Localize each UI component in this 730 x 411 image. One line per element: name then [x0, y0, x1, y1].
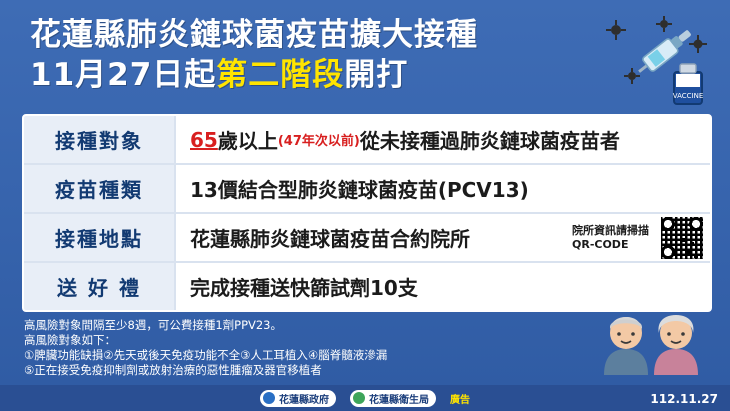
notes-block: 高風險對象間隔至少8週，可公費接種1劑PPV23。 高風險對象如下： ①脾臟功能… — [24, 318, 544, 378]
logo-county-label: 花蓮縣政府 — [279, 391, 329, 406]
footer-bar: 花蓮縣政府 花蓮縣衛生局 廣告 — [0, 385, 730, 411]
qr-code-icon[interactable] — [660, 216, 704, 260]
eligible-age: 65 — [190, 128, 218, 152]
row-label-gift: 送 好 禮 — [24, 263, 176, 310]
publish-date: 112.11.27 — [650, 392, 718, 406]
elderly-couple-icon — [596, 303, 706, 375]
note-line-1: 高風險對象間隔至少8週，可公費接種1劑PPV23。 — [24, 318, 544, 333]
table-row: 接種對象 65歲以上(47年次以前)從未接種過肺炎鏈球菌疫苗者 — [24, 116, 710, 165]
row-value-location: 花蓮縣肺炎鏈球菌疫苗合約院所 院所資訊請掃描QR-CODE — [176, 214, 710, 261]
info-table: 接種對象 65歲以上(47年次以前)從未接種過肺炎鏈球菌疫苗者 疫苗種類 13價… — [22, 114, 712, 312]
row-label-vaccine-type: 疫苗種類 — [24, 165, 176, 212]
eligible-birth-year: (47年次以前) — [278, 130, 360, 149]
title-line-2: 11月27日起第二階段開打 — [30, 56, 630, 94]
advertisement-tag: 廣告 — [450, 391, 470, 406]
title-phase-highlight: 第二階段 — [216, 57, 344, 93]
eligible-rest: 從未接種過肺炎鏈球菌疫苗者 — [360, 125, 620, 154]
poster-root: 花蓮縣肺炎鏈球菌疫苗擴大接種 11月27日起第二階段開打 — [0, 0, 730, 411]
vaccine-vial-label: VACCINE — [673, 92, 704, 100]
title-suffix: 開打 — [344, 57, 408, 93]
health-bureau-logo-icon — [353, 392, 365, 404]
logo-health-bureau: 花蓮縣衛生局 — [350, 390, 436, 407]
note-line-3: ①脾臟功能缺損②先天或後天免疫功能不全③人工耳植入④腦脊髓液滲漏 — [24, 348, 544, 363]
note-line-4: ⑤正在接受免疫抑制劑或放射治療的惡性腫瘤及器官移植者 — [24, 363, 544, 378]
logo-county-government: 花蓮縣政府 — [260, 390, 336, 407]
row-value-target: 65歲以上(47年次以前)從未接種過肺炎鏈球菌疫苗者 — [176, 116, 710, 163]
row-label-target: 接種對象 — [24, 116, 176, 163]
elderly-couple-illustration — [596, 303, 706, 375]
title-block: 花蓮縣肺炎鏈球菌疫苗擴大接種 11月27日起第二階段開打 — [30, 16, 630, 94]
title-line-1: 花蓮縣肺炎鏈球菌疫苗擴大接種 — [30, 16, 630, 54]
row-value-vaccine-type: 13價結合型肺炎鏈球菌疫苗(PCV13) — [176, 165, 710, 212]
note-line-2: 高風險對象如下： — [24, 333, 544, 348]
table-row: 接種地點 花蓮縣肺炎鏈球菌疫苗合約院所 院所資訊請掃描QR-CODE — [24, 214, 710, 263]
vaccine-illustration: VACCINE — [602, 14, 712, 110]
county-logo-icon — [263, 392, 275, 404]
qr-block: 院所資訊請掃描QR-CODE — [572, 216, 704, 260]
logo-health-label: 花蓮縣衛生局 — [369, 391, 429, 406]
title-date-prefix: 11月27日起 — [30, 57, 216, 93]
eligible-age-suffix: 歲以上 — [218, 125, 278, 154]
row-label-location: 接種地點 — [24, 214, 176, 261]
location-text: 花蓮縣肺炎鏈球菌疫苗合約院所 — [190, 223, 470, 252]
vaccine-icon: VACCINE — [602, 14, 712, 110]
table-row: 疫苗種類 13價結合型肺炎鏈球菌疫苗(PCV13) — [24, 165, 710, 214]
qr-instruction: 院所資訊請掃描QR-CODE — [572, 224, 656, 252]
